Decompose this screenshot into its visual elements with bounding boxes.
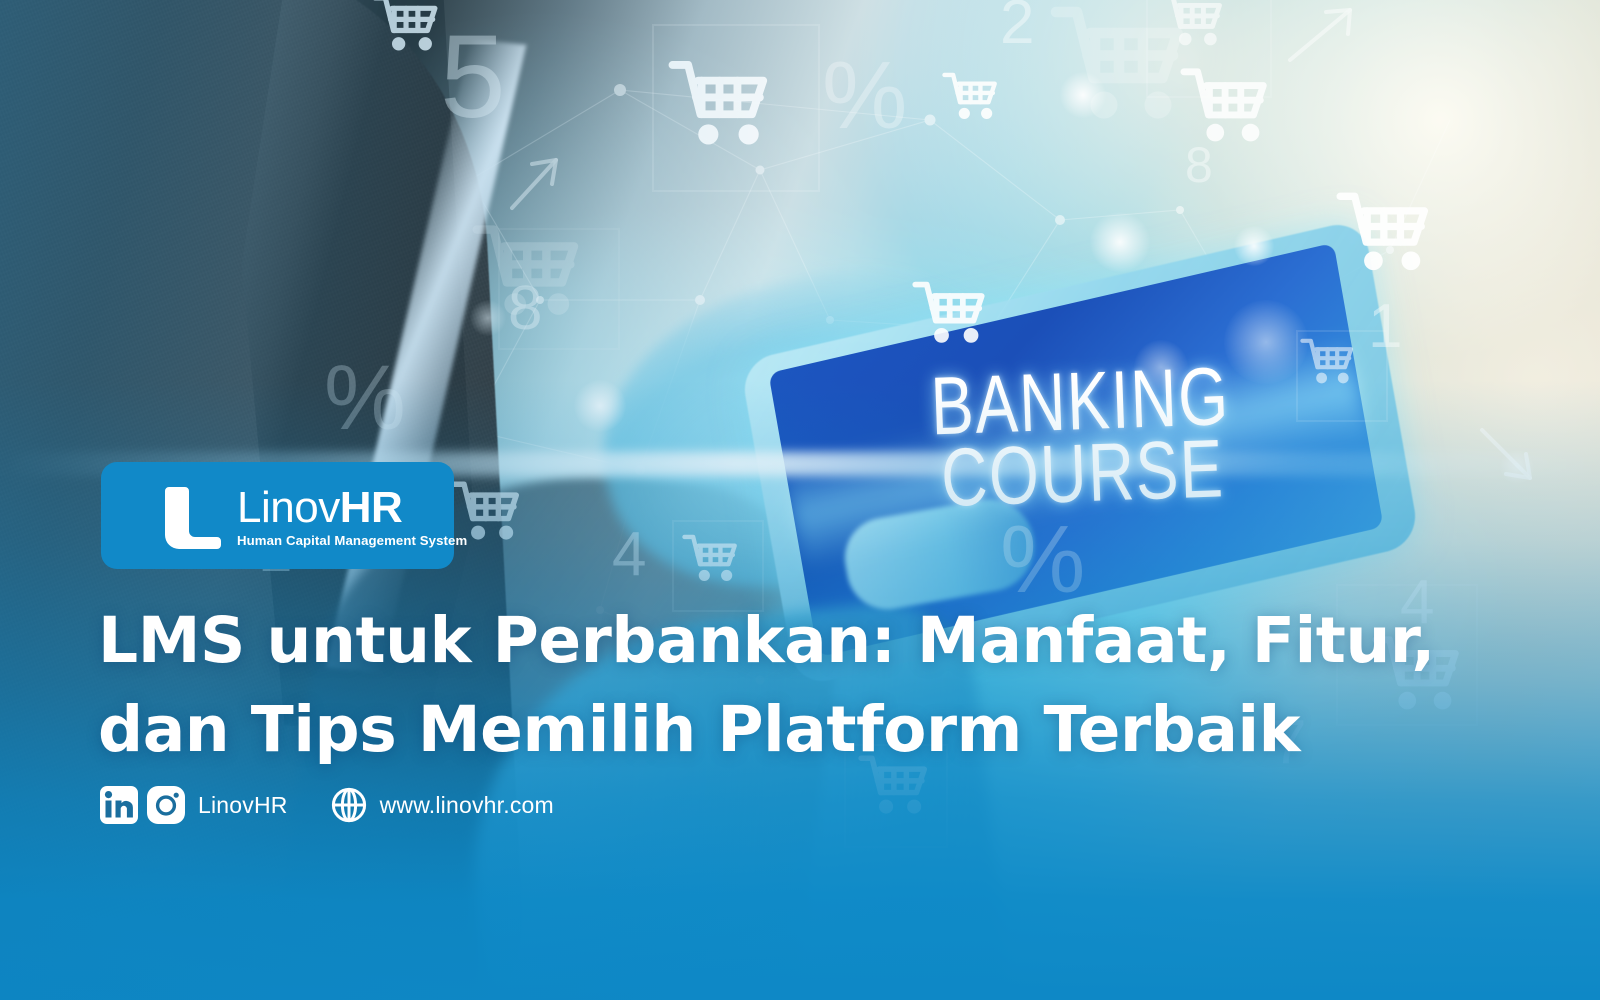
logo-word-row: LinovHR — [237, 486, 467, 530]
logo-tagline: Human Capital Management System — [237, 533, 467, 548]
banner-canvas: BANKING COURSE 528814471%%% LinovHR Hum — [0, 0, 1600, 1000]
linovhr-logo-badge[interactable]: LinovHR Human Capital Management System — [101, 462, 454, 569]
content-layer: LinovHR Human Capital Management System … — [0, 0, 1600, 1000]
linovhr-l-mark-icon — [159, 483, 225, 553]
social-footer: LinovHR www.linovhr.com — [100, 786, 554, 824]
page-title: LMS untuk Perbankan: Manfaat, Fitur, dan… — [98, 596, 1348, 775]
headline-line-1: LMS untuk Perbankan: Manfaat, Fitur, — [98, 596, 1348, 685]
social-handle: LinovHR — [198, 792, 288, 819]
headline-line-2: dan Tips Memilih Platform Terbaik — [98, 685, 1348, 774]
instagram-icon[interactable] — [147, 786, 185, 824]
website-url: www.linovhr.com — [380, 792, 554, 819]
logo-wordmark: LinovHR Human Capital Management System — [237, 486, 467, 548]
linkedin-icon[interactable] — [100, 786, 138, 824]
website-group[interactable]: www.linovhr.com — [330, 786, 554, 824]
logo-name-bold: HR — [340, 483, 403, 532]
logo-name-light: Linov — [237, 483, 340, 532]
globe-icon — [330, 786, 368, 824]
